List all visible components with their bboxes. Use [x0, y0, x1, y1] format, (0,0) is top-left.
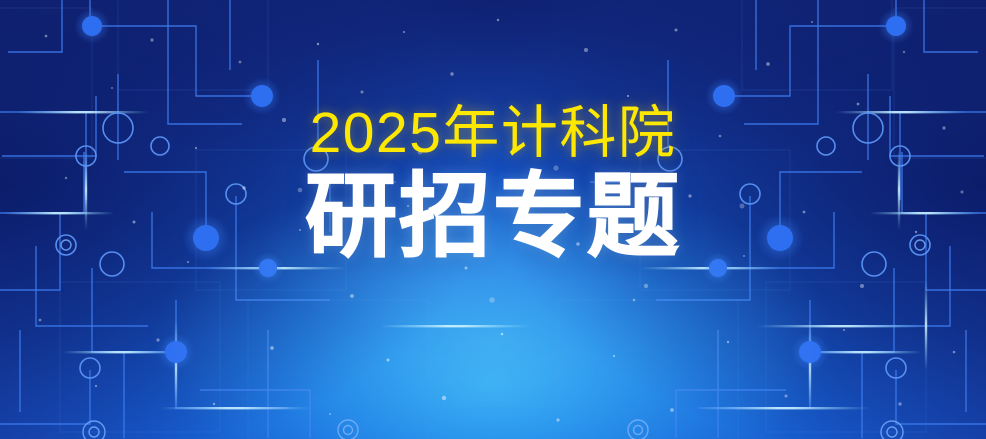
promo-banner: 2025年计科院 研招专题 — [0, 0, 986, 439]
light-particle-group — [39, 19, 964, 422]
particle-layer — [0, 0, 986, 439]
